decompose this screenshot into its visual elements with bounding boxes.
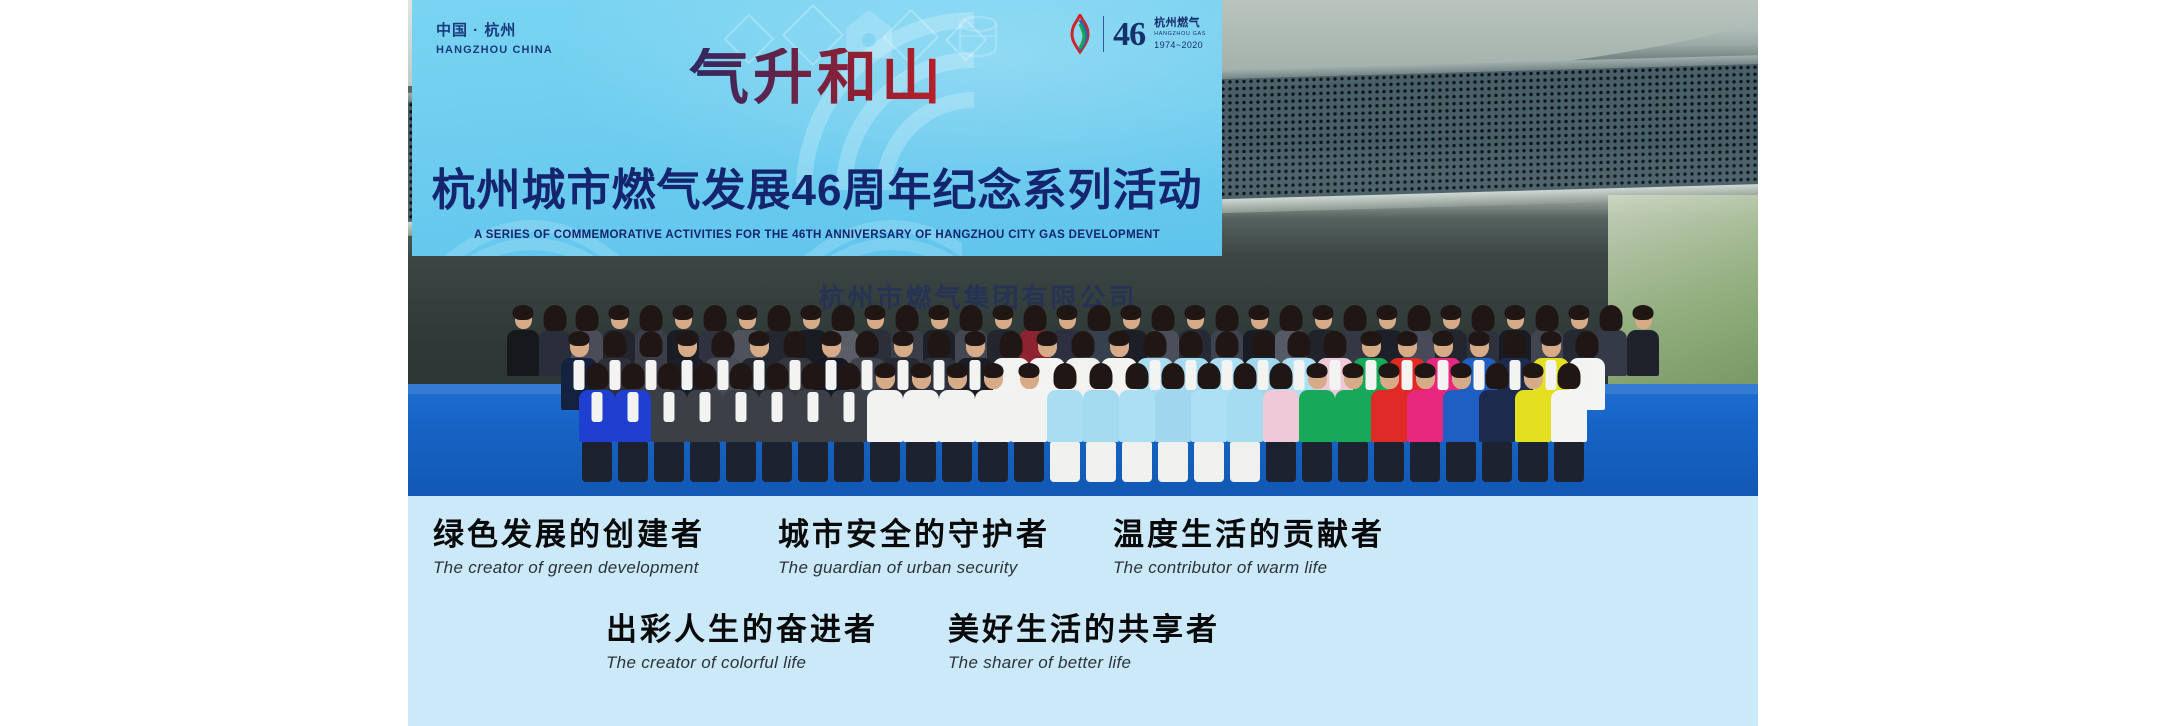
caption-cn: 绿色发展的创建者 xyxy=(433,518,705,552)
logo-anniversary-number: 46 xyxy=(1113,18,1145,52)
caption-cn: 美好生活的共享者 xyxy=(948,613,1220,647)
caption-item-better-life: 美好生活的共享者 The sharer of better life xyxy=(948,613,1220,673)
caption-item-colorful-life: 出彩人生的奋进者 The creator of colorful life xyxy=(606,613,878,673)
caption-en: The guardian of urban security xyxy=(778,558,1050,578)
caption-panel: 绿色发展的创建者 The creator of green developmen… xyxy=(408,496,1758,726)
group-photo: 杭州市燃气集团有限公司 xyxy=(408,0,1758,496)
page-root: 杭州市燃气集团有限公司 xyxy=(0,0,2179,726)
logo-name-cn: 杭州燃气 xyxy=(1154,17,1206,30)
logo-text-block: 杭州燃气 HANGZHOU GAS 1974~2020 xyxy=(1154,17,1206,52)
article-content-column: 杭州市燃气集团有限公司 xyxy=(408,0,1758,726)
caption-item-green-development: 绿色发展的创建者 The creator of green developmen… xyxy=(433,518,705,578)
caption-item-urban-security: 城市安全的守护者 The guardian of urban security xyxy=(778,518,1050,578)
caption-en: The creator of green development xyxy=(433,558,705,578)
caption-en: The creator of colorful life xyxy=(606,653,878,673)
crowd-group xyxy=(408,166,1758,496)
caption-cn: 温度生活的贡献者 xyxy=(1113,518,1385,552)
caption-cn: 城市安全的守护者 xyxy=(778,518,1050,552)
caption-en: The sharer of better life xyxy=(948,653,1220,673)
place-name-cn: 中国 · 杭州 xyxy=(436,22,553,41)
caption-item-warm-life: 温度生活的贡献者 The contributor of warm life xyxy=(1113,518,1385,578)
caption-cn: 出彩人生的奋进者 xyxy=(606,613,878,647)
logo-divider xyxy=(1103,16,1104,52)
artistic-title: 气升和山 xyxy=(412,48,1222,108)
person xyxy=(1626,308,1660,376)
logo-name-en: HANGZHOU GAS xyxy=(1154,31,1206,38)
caption-en: The contributor of warm life xyxy=(1113,558,1385,578)
person xyxy=(506,308,540,376)
